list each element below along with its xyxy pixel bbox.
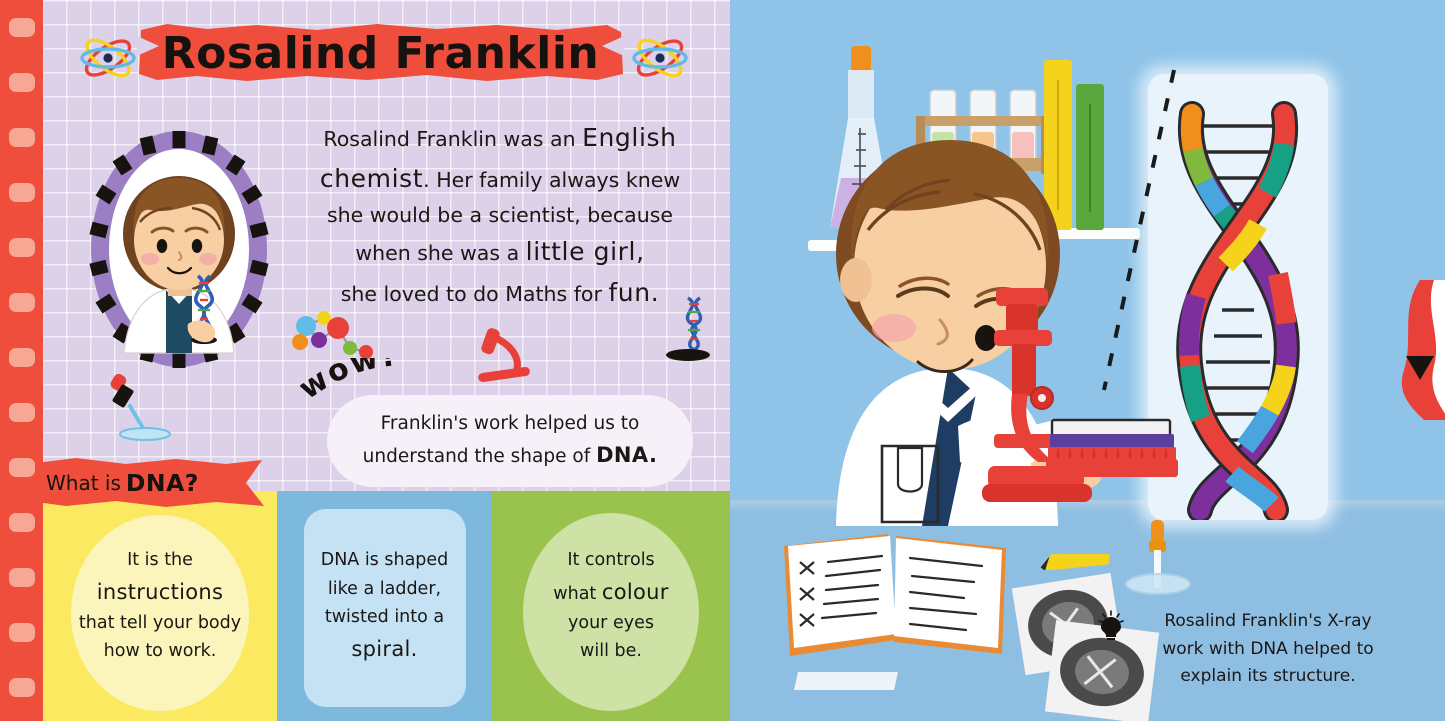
fact-line: twisted into a — [325, 603, 444, 631]
fact-line: like a ladder, — [328, 575, 441, 603]
pipette-petri-dish-icon — [92, 368, 186, 442]
bubble-line-2: understand the shape of DNA. — [363, 439, 658, 472]
section-tag-emphasis: DNA? — [126, 469, 199, 497]
fact-panel-shape: DNA is shaped like a ladder, twisted int… — [277, 491, 492, 721]
atom-icon — [78, 28, 138, 88]
open-notebook-icon — [770, 530, 1020, 670]
paper-slip — [794, 672, 898, 690]
fact-line: It is the — [127, 546, 193, 574]
wow-text: wow! — [300, 358, 398, 406]
section-tag: What is DNA? — [36, 457, 264, 509]
microscope-icon — [472, 322, 536, 388]
wow-exclamation: wow! — [300, 358, 430, 406]
fact-panel-instructions: It is the instructions that tell your bo… — [43, 491, 277, 721]
body-paragraph: Rosalind Franklin was an English chemist… — [300, 118, 700, 313]
fact-line: It controls — [567, 546, 654, 574]
section-tag-prefix: What is — [46, 471, 121, 495]
colour-emphasis: colour — [602, 580, 669, 604]
dna-model-icon — [644, 292, 716, 368]
caption-line-3: explain its structure. — [1118, 663, 1418, 691]
fact-line: your eyes — [568, 609, 654, 637]
caption-line-1: Rosalind Franklin's X-ray — [1118, 608, 1418, 636]
dna-emphasis: DNA. — [596, 443, 657, 467]
atom-icon — [630, 28, 690, 88]
pencil-icon — [1024, 548, 1116, 570]
stack-of-books-icon — [1044, 418, 1184, 488]
left-page: Rosalind Franklin — [0, 0, 730, 721]
speech-bubble: Franklin's work helped us to understand … — [330, 398, 690, 484]
body-line: chemist. Her family always knew — [300, 159, 700, 200]
page-title-banner: Rosalind Franklin — [137, 22, 624, 84]
fact-line-emphasis: spiral. — [351, 632, 417, 666]
fact-line: will be. — [580, 637, 642, 665]
fact-line-emphasis: instructions — [97, 575, 224, 609]
body-line: she would be a scientist, because — [300, 199, 700, 232]
spiral-binding-strip — [0, 0, 43, 721]
fact-panels: It is the instructions that tell your bo… — [43, 491, 730, 721]
bubble-line-1: Franklin's work helped us to — [381, 410, 640, 439]
page-caption: Rosalind Franklin's X-ray work with DNA … — [1118, 608, 1418, 691]
fact-panel-eye-colour: It controls what colour your eyes will b… — [492, 491, 730, 721]
fact-line: DNA is shaped — [321, 546, 449, 574]
pipette-petri-dish-icon — [1118, 518, 1198, 604]
fact-line: that tell your body — [79, 609, 241, 637]
fact-line: how to work. — [104, 637, 217, 665]
portrait-oval-frame — [88, 128, 271, 371]
body-line: when she was a little girl, — [300, 232, 700, 273]
fact-line: what colour — [553, 575, 668, 609]
svg-text:wow!: wow! — [300, 358, 398, 406]
book-spread: Rosalind Franklin — [0, 0, 1445, 721]
page-title: Rosalind Franklin — [137, 22, 624, 84]
body-line: Rosalind Franklin was an English — [300, 118, 700, 159]
caption-line-2: work with DNA helped to — [1118, 636, 1418, 664]
page-edge-decoration — [1390, 280, 1445, 420]
right-page: Rosalind Franklin's X-ray work with DNA … — [730, 0, 1445, 721]
